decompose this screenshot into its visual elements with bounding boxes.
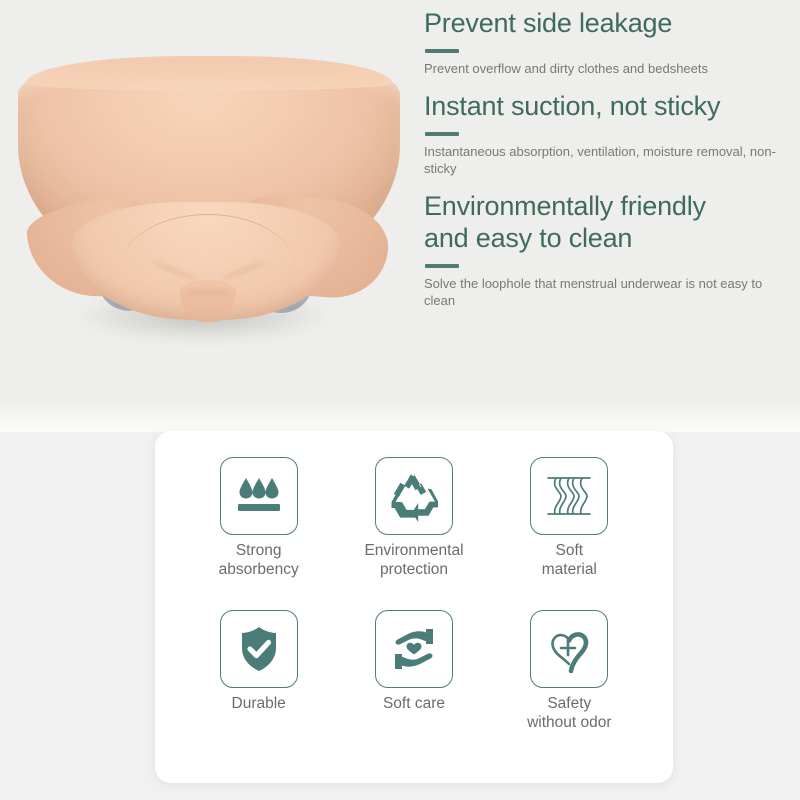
benefit-item-soft-material: Soft material [496,457,643,604]
product-infographic: Prevent side leakage Prevent overflow an… [0,0,800,800]
feature-subtitle: Instantaneous absorption, ventilation, m… [424,143,784,177]
feature-accent-rule [425,264,459,268]
water-drops-absorbency-icon [233,470,285,522]
feature-item-prevent-side-leakage: Prevent side leakage Prevent overflow an… [424,8,792,77]
feature-accent-rule [425,49,459,53]
feature-accent-rule [425,132,459,136]
feature-title: Prevent side leakage [424,8,792,40]
feature-title: Environmentally friendly and easy to cle… [424,191,792,255]
product-fabric-fold [186,290,230,295]
recycle-icon [388,470,440,522]
feature-title: Instant suction, not sticky [424,91,792,123]
benefit-item-environmental-protection: Environmental protection [340,457,487,604]
benefit-icon-frame [530,457,608,535]
benefit-label: Environmental protection [364,542,463,579]
feature-subtitle: Prevent overflow and dirty clothes and b… [424,60,784,77]
benefit-label: Durable [232,695,286,714]
feature-item-environmentally-friendly: Environmentally friendly and easy to cle… [424,191,792,309]
benefits-card: Strong absorbency [155,431,673,783]
wavy-fibers-icon [543,470,595,522]
feature-subtitle: Solve the loophole that menstrual underw… [424,275,784,309]
benefit-item-strong-absorbency: Strong absorbency [185,457,332,604]
benefit-label: Soft material [542,542,597,579]
benefit-item-soft-care: Soft care [340,610,487,757]
benefits-grid: Strong absorbency [185,457,643,757]
shield-check-icon [233,623,285,675]
benefit-label: Soft care [383,695,445,714]
benefit-item-safety-without-odor: Safety without odor [496,610,643,757]
benefit-icon-frame [375,610,453,688]
benefit-icon-frame [220,610,298,688]
benefit-label: Safety without odor [527,695,611,732]
heart-plus-icon [543,623,595,675]
benefit-label: Strong absorbency [219,542,299,579]
hands-heart-icon [388,623,440,675]
product-waistband [26,56,392,90]
benefit-icon-frame [220,457,298,535]
feature-list: Prevent side leakage Prevent overflow an… [424,8,792,323]
benefit-icon-frame [530,610,608,688]
feature-item-instant-suction: Instant suction, not sticky Instantaneou… [424,91,792,177]
benefit-item-durable: Durable [185,610,332,757]
product-image [0,18,418,368]
benefit-icon-frame [375,457,453,535]
